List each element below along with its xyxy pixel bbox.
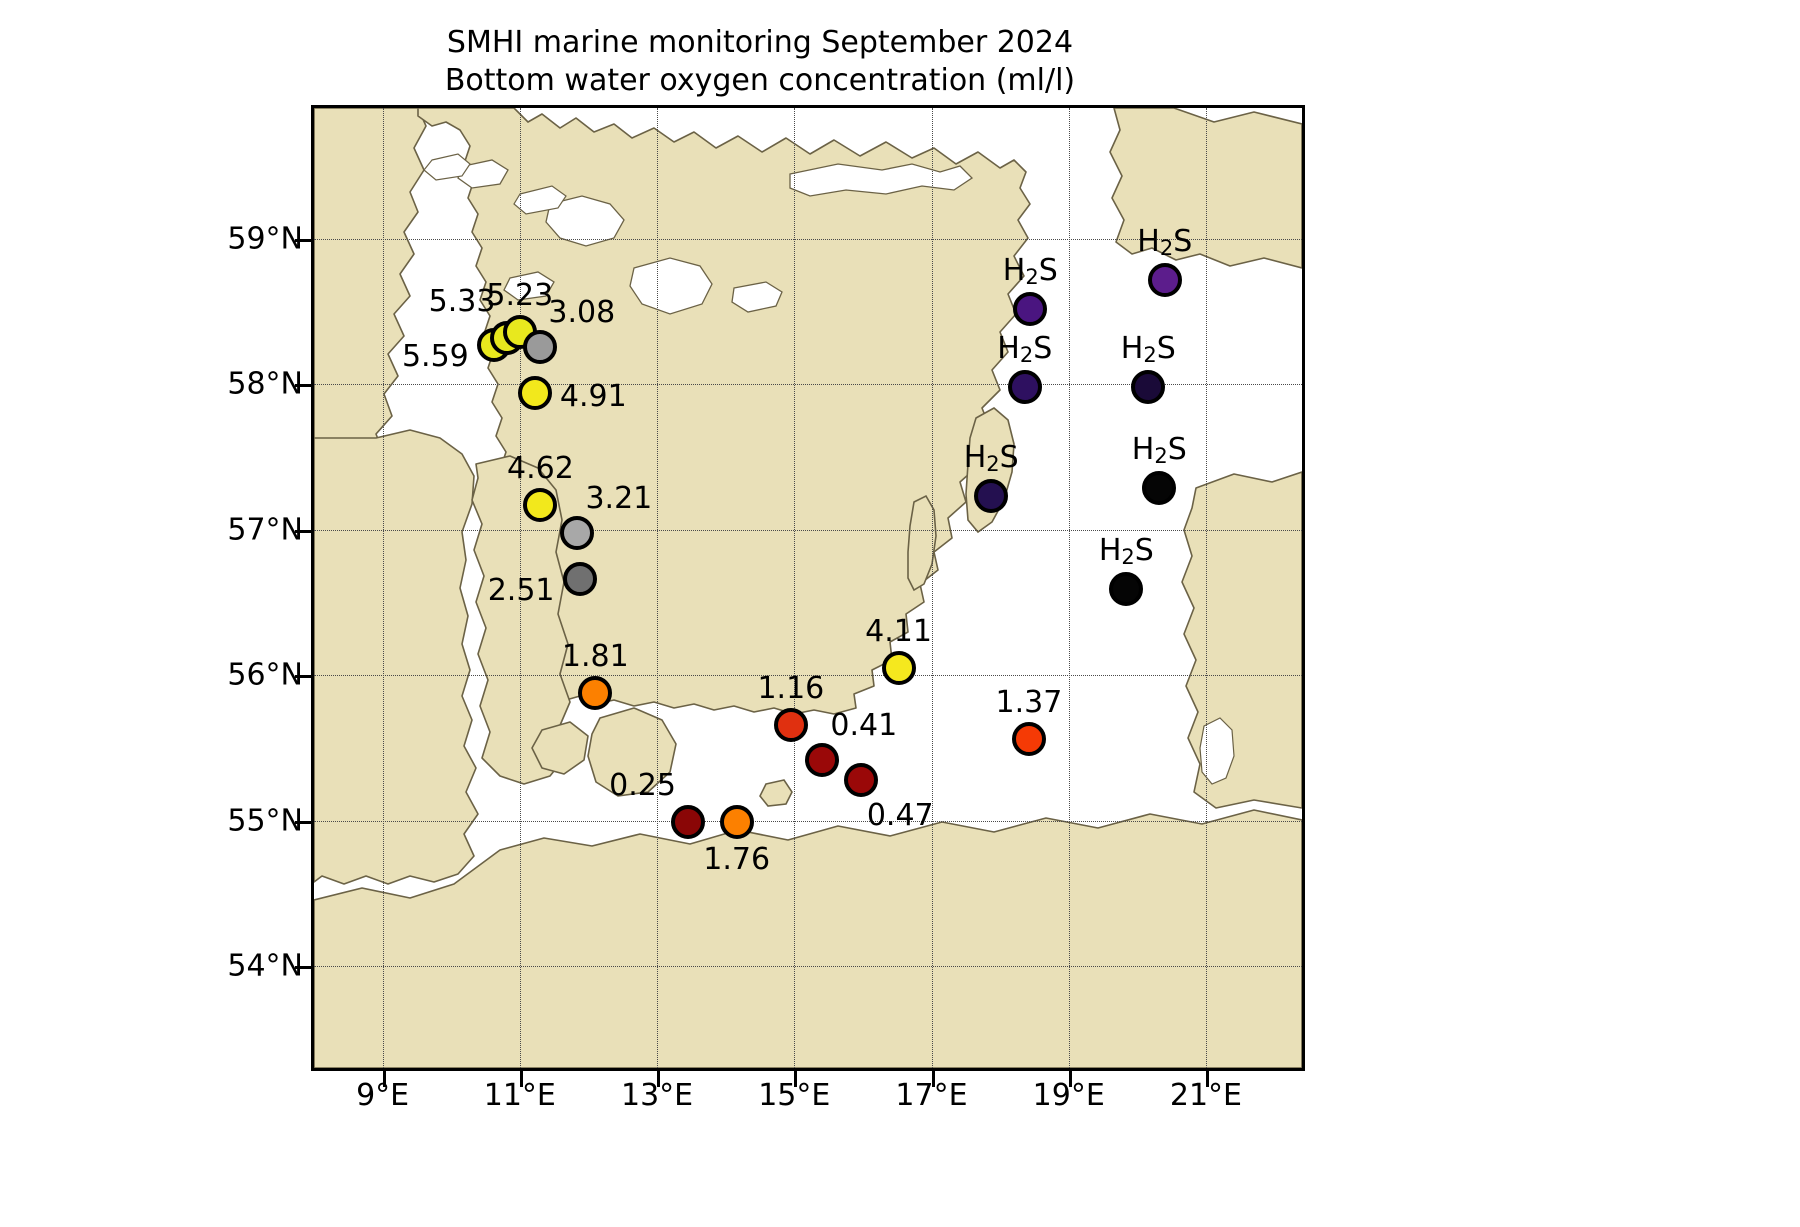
station-marker[interactable] [1109,572,1143,606]
gridline-lat-57 [314,530,1302,531]
station-marker[interactable] [523,488,557,522]
title-line-2: Bottom water oxygen concentration (ml/l) [0,62,1520,100]
gridline-lon-9 [383,108,384,1068]
station-value-label: 0.41 [830,711,897,741]
latitude-tick-label: 57°N [227,512,303,547]
latitude-tick-mark [295,530,311,533]
gridline-lon-15 [794,108,795,1068]
station-value-label: 0.25 [609,771,676,801]
station-marker[interactable] [1008,370,1042,404]
station-value-label: H2S [964,443,1019,475]
station-value-label: 1.76 [703,845,770,875]
station-marker[interactable] [774,708,808,742]
station-marker[interactable] [1142,471,1176,505]
latitude-tick-mark [295,966,311,969]
latitude-tick-label: 55°N [227,803,303,838]
station-value-label: H2S [1099,536,1154,568]
latitude-tick-label: 59°N [227,221,303,256]
longitude-tick-mark [794,1071,797,1087]
station-value-label: H2S [1003,256,1058,288]
station-marker[interactable] [720,805,754,839]
station-value-label: 4.11 [865,617,932,647]
gridline-lon-19 [1069,108,1070,1068]
longitude-tick-mark [1206,1071,1209,1087]
station-value-label: 4.62 [507,454,574,484]
gridline-lon-21 [1206,108,1207,1068]
longitude-tick-mark [932,1071,935,1087]
station-value-label: 0.47 [867,801,934,831]
gridline-lat-54 [314,966,1302,967]
longitude-tick-mark [657,1071,660,1087]
chart-title: SMHI marine monitoring September 2024 Bo… [0,24,1520,100]
station-value-label: H2S [997,334,1052,366]
station-value-label: 1.81 [562,642,629,672]
latitude-tick-mark [295,675,311,678]
station-value-label: 1.37 [996,688,1063,718]
station-value-label: 3.08 [548,298,615,328]
station-value-label: H2S [1137,227,1192,259]
station-value-label: H2S [1132,435,1187,467]
latitude-tick-mark [295,384,311,387]
longitude-tick-mark [520,1071,523,1087]
gridline-lon-13 [657,108,658,1068]
station-marker[interactable] [974,479,1008,513]
station-marker[interactable] [1012,722,1046,756]
station-marker[interactable] [560,516,594,550]
gridline-lon-17 [932,108,933,1068]
station-marker[interactable] [518,376,552,410]
station-marker[interactable] [578,676,612,710]
station-value-label: 3.21 [585,484,652,514]
gridline-lat-55 [314,821,1302,822]
station-value-label: 1.16 [757,674,824,704]
longitude-tick-mark [1069,1071,1072,1087]
map-canvas: 5.595.335.233.084.914.623.212.511.814.11… [314,108,1302,1068]
title-line-1: SMHI marine monitoring September 2024 [0,24,1520,62]
station-value-label: 2.51 [488,576,555,606]
latitude-tick-mark [295,821,311,824]
station-marker[interactable] [844,763,878,797]
station-marker[interactable] [882,651,916,685]
longitude-tick-mark [383,1071,386,1087]
latitude-tick-label: 58°N [227,367,303,402]
station-marker[interactable] [1013,292,1047,326]
map-panel[interactable]: 5.595.335.233.084.914.623.212.511.814.11… [311,105,1305,1071]
station-marker[interactable] [805,743,839,777]
station-value-label: 5.23 [486,281,553,311]
station-value-label: 4.91 [560,382,627,412]
station-marker[interactable] [1148,263,1182,297]
station-value-label: 5.59 [402,342,469,372]
latitude-tick-label: 56°N [227,658,303,693]
station-marker[interactable] [671,805,705,839]
station-marker[interactable] [563,562,597,596]
station-marker[interactable] [1131,370,1165,404]
station-marker[interactable] [523,330,557,364]
latitude-tick-mark [295,239,311,242]
station-value-label: H2S [1121,334,1176,366]
latitude-tick-label: 54°N [227,949,303,984]
